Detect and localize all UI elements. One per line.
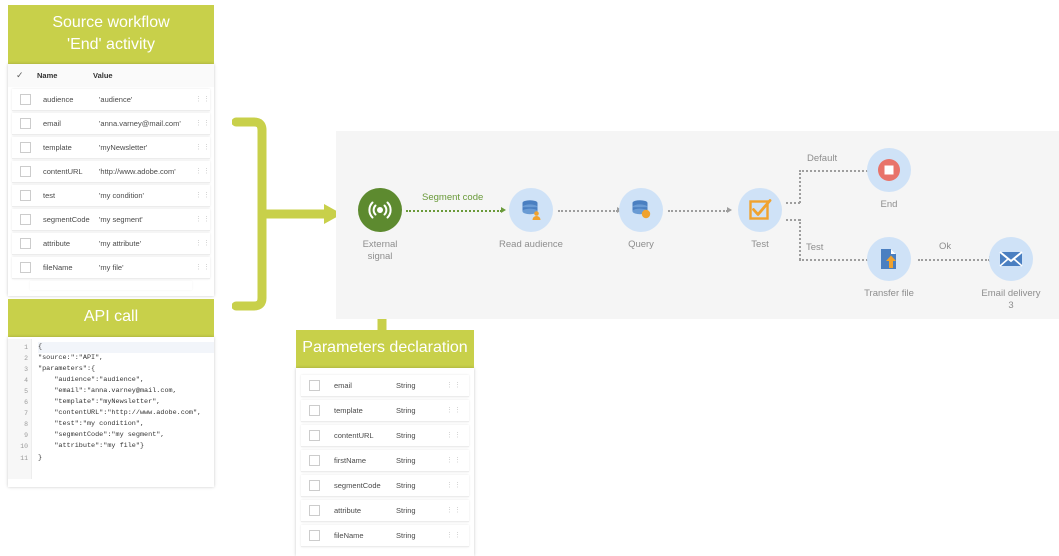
drag-handle-icon[interactable]: ⋮⋮ [446,409,456,412]
workflow-node-test[interactable] [738,188,782,232]
database-query-icon [628,197,654,223]
row-checkbox[interactable] [309,480,320,491]
cell-name: contentURL [334,431,396,440]
drag-handle-icon[interactable]: ⋮⋮ [446,509,456,512]
cell-value: 'my attribute' [99,239,195,248]
code-line: "template":"myNewsletter", [38,397,214,408]
table-row[interactable]: audience'audience'⋮⋮ [12,89,210,111]
envelope-icon [998,246,1024,272]
row-checkbox[interactable] [309,505,320,516]
label-line1: External [335,239,425,251]
code-line: "audience":"audience", [38,375,214,386]
table-row[interactable]: attribute'my attribute'⋮⋮ [12,233,210,255]
row-checkbox[interactable] [20,262,31,273]
column-header-name: Name [37,71,93,80]
line-number: 3 [8,364,28,375]
workflow-node-read-audience[interactable] [509,188,553,232]
edge-test-default-vertical [799,170,801,203]
checkbox-check-icon [747,197,773,223]
table-row[interactable]: test'my condition'⋮⋮ [12,185,210,207]
cell-value: 'my segment' [99,215,195,224]
workflow-label-read-audience: Read audience [486,239,576,251]
row-checkbox[interactable] [20,94,31,105]
edge-test-branch-stub [786,219,800,221]
code-line: } [38,453,214,464]
bracket-connector-arrow [232,116,342,312]
line-number: 1 [8,342,28,353]
drag-handle-icon[interactable]: ⋮⋮ [195,218,205,221]
row-checkbox[interactable] [20,142,31,153]
label-line1: End [844,199,934,211]
cell-name: email [334,381,396,390]
drag-handle-icon[interactable]: ⋮⋮ [195,266,205,269]
edge-label-segment-code: Segment code [422,192,483,203]
code-line: "parameters":{ [38,364,214,375]
cell-type: String [396,381,446,390]
edge-arrow-read-audience [501,207,506,213]
label-line1: Transfer file [844,288,934,300]
source-workflow-title-line1: Source workflow [14,12,208,34]
row-checkbox[interactable] [20,238,31,249]
api-call-code: {"source:":"API","parameters":{ "audienc… [32,339,214,479]
cell-type: String [396,481,446,490]
workflow-label-query: Query [596,239,686,251]
table-header-row: ✓ Name Value [8,64,214,87]
workflow-node-external-signal[interactable] [358,188,402,232]
cell-value: 'myNewsletter' [99,143,195,152]
edge-arrow-test [727,207,732,213]
table-row[interactable]: contentURLString⋮⋮ [301,425,469,447]
table-row[interactable]: email'anna.varney@mail.com'⋮⋮ [12,113,210,135]
cell-value: 'anna.varney@mail.com' [99,119,195,128]
cell-name: attribute [43,239,99,248]
line-number: 9 [8,430,28,441]
table-row[interactable]: attributeString⋮⋮ [301,500,469,522]
line-number: 7 [8,408,28,419]
edge-external-to-read [406,210,502,212]
row-checkbox[interactable] [20,190,31,201]
edge-test-branch-vertical [799,219,801,260]
table-row[interactable]: template'myNewsletter'⋮⋮ [12,137,210,159]
source-workflow-header: Source workflow 'End' activity [8,5,214,64]
label-line2: signal [335,251,425,263]
edge-transfer-to-email [918,259,990,261]
line-number: 8 [8,419,28,430]
table-row[interactable]: firstNameString⋮⋮ [301,450,469,472]
edge-test-default-stub [786,202,800,204]
cell-name: template [334,406,396,415]
edge-test-default-horizontal [799,170,875,172]
edge-label-test: Test [806,242,823,253]
cell-name: email [43,119,99,128]
line-number: 2 [8,353,28,364]
api-call-header: API call [8,299,214,337]
table-row[interactable]: fileName'my file'⋮⋮ [12,257,210,279]
row-checkbox[interactable] [309,530,320,541]
cell-value: 'http://www.adobe.com' [99,167,195,176]
workflow-label-transfer-file: Transfer file [844,288,934,300]
cell-type: String [396,406,446,415]
row-checkbox[interactable] [309,430,320,441]
stop-square-icon [876,157,902,183]
line-number: 10 [8,441,28,452]
row-checkbox[interactable] [309,380,320,391]
row-checkbox[interactable] [309,405,320,416]
workflow-node-query[interactable] [619,188,663,232]
source-workflow-panel: Source workflow 'End' activity ✓ Name Va… [8,5,214,296]
drag-handle-icon[interactable]: ⋮⋮ [195,122,205,125]
row-checkbox[interactable] [309,455,320,466]
line-number: 11 [8,453,28,464]
drag-handle-icon[interactable]: ⋮⋮ [195,146,205,149]
cell-type: String [396,531,446,540]
workflow-label-test: Test [715,239,805,251]
cell-name: fileName [43,263,99,272]
table-row[interactable]: templateString⋮⋮ [301,400,469,422]
column-header-value: Value [93,71,214,80]
drag-handle-icon[interactable]: ⋮⋮ [446,459,456,462]
code-line: "email":"anna.varney@mail.com, [38,386,214,397]
cell-name: fileName [334,531,396,540]
cell-name: firstName [334,456,396,465]
drag-handle-icon[interactable]: ⋮⋮ [446,534,456,537]
database-user-icon [518,197,544,223]
check-column-icon: ✓ [16,70,25,81]
table-row[interactable]: segmentCodeString⋮⋮ [301,475,469,497]
cell-name: contentURL [43,167,99,176]
row-checkbox[interactable] [20,118,31,129]
table-row[interactable]: segmentCode'my segment'⋮⋮ [12,209,210,231]
edge-label-ok: Ok [939,241,951,252]
cell-value: 'audience' [99,95,195,104]
cell-value: 'my condition' [99,191,195,200]
workflow-node-end[interactable] [867,148,911,192]
api-call-panel: API call 1234567891011 {"source:":"API",… [8,299,214,487]
code-line: "segmentCode":"my segment", [38,430,214,441]
cell-name: test [43,191,99,200]
cell-value: 'my file' [99,263,195,272]
line-number-gutter: 1234567891011 [8,339,32,479]
drag-handle-icon[interactable]: ⋮⋮ [446,484,456,487]
cell-type: String [396,506,446,515]
drag-handle-icon[interactable]: ⋮⋮ [446,384,456,387]
workflow-label-end: End [844,199,934,211]
workflow-label-email-delivery: Email delivery 3 [966,288,1056,311]
cell-type: String [396,431,446,440]
cell-name: audience [43,95,99,104]
drag-handle-icon[interactable]: ⋮⋮ [195,170,205,173]
label-line2: 3 [966,300,1056,312]
edge-test-branch-horizontal [799,259,875,261]
edge-query-to-test [668,210,728,212]
workflow-node-email-delivery[interactable] [989,237,1033,281]
cell-name: template [43,143,99,152]
drag-handle-icon[interactable]: ⋮⋮ [195,98,205,101]
table-row[interactable]: emailString⋮⋮ [301,375,469,397]
file-upload-icon [876,246,902,272]
label-line1: Read audience [486,239,576,251]
drag-handle-icon[interactable]: ⋮⋮ [446,434,456,437]
code-line: { [38,342,214,353]
code-line: "contentURL":"http://www.adobe.com", [38,408,214,419]
source-workflow-title-line2: 'End' activity [14,34,208,56]
line-number: 6 [8,397,28,408]
parameters-declaration-panel: Parameters declaration emailString⋮⋮temp… [296,330,474,556]
workflow-label-external-signal: External signal [335,239,425,262]
label-line1: Query [596,239,686,251]
code-line: "test":"my condition", [38,419,214,430]
table-row[interactable]: fileNameString⋮⋮ [301,525,469,547]
cell-type: String [396,456,446,465]
parameters-declaration-table: emailString⋮⋮templateString⋮⋮contentURLS… [296,368,474,556]
cell-name: attribute [334,506,396,515]
api-call-code-block: 1234567891011 {"source:":"API","paramete… [8,337,214,487]
row-checkbox[interactable] [20,166,31,177]
workflow-node-transfer-file[interactable] [867,237,911,281]
cell-name: segmentCode [334,481,396,490]
label-line1: Email delivery [966,288,1056,300]
parameters-declaration-header: Parameters declaration [296,330,474,368]
code-line: "attribute":"my file"} [38,441,214,452]
code-line: "source:":"API", [38,353,214,364]
cell-name: segmentCode [43,215,99,224]
table-row[interactable]: contentURL'http://www.adobe.com'⋮⋮ [12,161,210,183]
workflow-diagram-panel: External signal Segment code Read audien… [336,131,1059,319]
line-number: 4 [8,375,28,386]
line-number: 5 [8,386,28,397]
edge-label-default: Default [807,153,837,164]
table-row-partial [30,281,192,290]
source-workflow-table: ✓ Name Value audience'audience'⋮⋮email'a… [8,64,214,296]
edge-read-to-query [558,210,618,212]
label-line1: Test [715,239,805,251]
drag-handle-icon[interactable]: ⋮⋮ [195,242,205,245]
drag-handle-icon[interactable]: ⋮⋮ [195,194,205,197]
signal-icon [367,197,393,223]
row-checkbox[interactable] [20,214,31,225]
